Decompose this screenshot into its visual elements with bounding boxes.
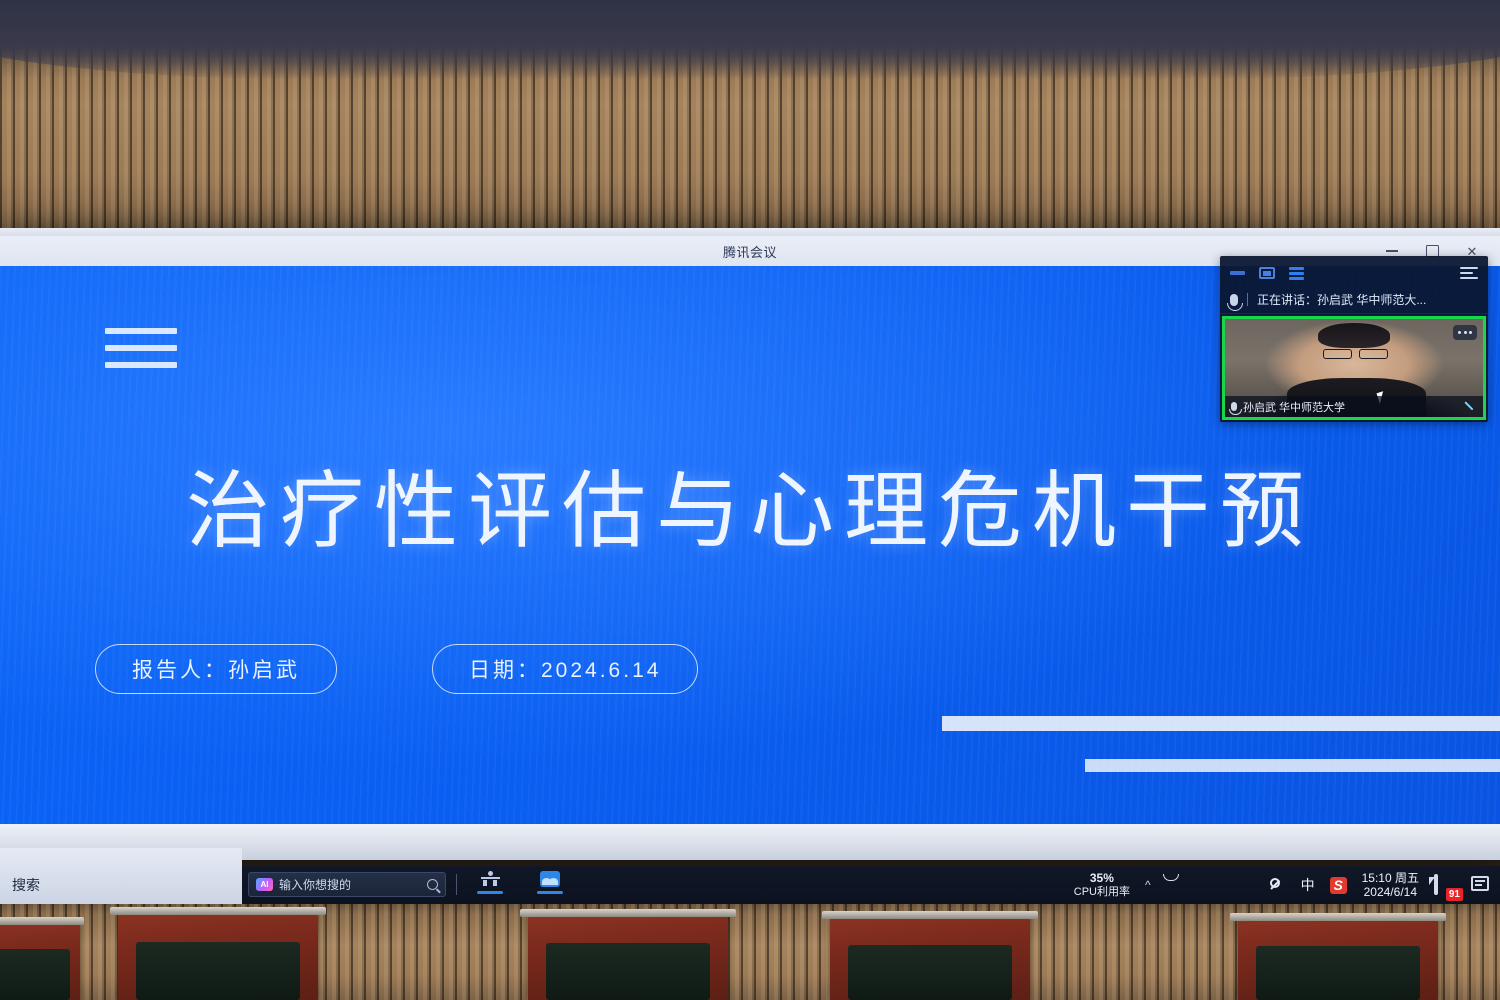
date-pill: 日期：2024.6.14 — [432, 644, 698, 694]
minimize-bar-icon[interactable] — [1230, 271, 1245, 275]
security-shield-icon[interactable] — [1200, 876, 1219, 895]
window-title: 腾讯会议 — [723, 242, 777, 261]
picture-icon — [540, 870, 560, 888]
microphone-icon — [1231, 402, 1237, 411]
search-input[interactable]: AI 输入你想搜的 — [248, 872, 446, 897]
more-options-icon[interactable] — [1453, 325, 1477, 340]
auditorium-chair — [118, 912, 318, 1000]
cpu-usage-indicator[interactable]: 35% CPU利用率 — [1074, 872, 1130, 898]
avatar-glasses — [1323, 349, 1388, 359]
cpu-label: CPU利用率 — [1074, 886, 1130, 899]
expand-panel-icon[interactable] — [1460, 267, 1478, 280]
taskbar-app-list — [472, 870, 568, 894]
taskbar-divider — [456, 874, 457, 895]
clock-date: 2024/6/14 — [1362, 885, 1419, 899]
slide-meta-row: 报告人：孙启武 日期：2024.6.14 — [95, 644, 698, 694]
grid-list-icon[interactable] — [1289, 267, 1304, 280]
single-view-icon[interactable] — [1259, 267, 1275, 279]
projection-screen: 腾讯会议 治疗性评估与心理危机干预 报告人：孙启武 日期：2024.6.14 — [0, 228, 1500, 860]
update-icon[interactable] — [1234, 876, 1253, 895]
auditorium-chair — [1238, 918, 1438, 1000]
taskbar-search-pane[interactable]: 搜索 — [0, 848, 242, 904]
chat-icon[interactable] — [1471, 876, 1490, 895]
microphone-icon[interactable] — [1166, 876, 1185, 895]
participant-video-tile[interactable]: 孙启武 华中师范大学 — [1222, 316, 1486, 420]
taskbar-app-photos[interactable] — [532, 870, 568, 894]
pen-tool-icon[interactable] — [1268, 876, 1286, 894]
slide-decoration-lines — [105, 328, 177, 368]
slide-title: 治疗性评估与心理危机干预 — [0, 444, 1500, 565]
app-active-indicator — [537, 891, 563, 894]
auditorium-chair — [830, 916, 1030, 1000]
minimize-icon[interactable] — [1382, 250, 1402, 252]
windows-taskbar: 搜索 AI 输入你想搜的 35% CPU利用率 ^ 中 S 15:10 周五 2… — [0, 866, 1500, 904]
notification-icon[interactable]: 91 — [1434, 876, 1456, 895]
wooden-wall-upper — [0, 0, 1500, 232]
app-active-indicator — [477, 891, 503, 894]
avatar-hair — [1318, 323, 1390, 348]
microphone-icon — [1230, 294, 1238, 306]
auditorium-chair — [0, 922, 80, 1000]
participant-name-bar: 孙启武 华中师范大学 — [1225, 396, 1483, 417]
speaking-indicator: 正在讲话：孙启武 华中师范大... — [1220, 286, 1488, 314]
search-placeholder: 输入你想搜的 — [279, 876, 421, 893]
search-icon[interactable] — [427, 879, 438, 890]
slide-decoration-bar-short — [1085, 759, 1500, 772]
people-icon — [480, 870, 500, 888]
auditorium-chair — [528, 914, 728, 1000]
taskbar-app-teams[interactable] — [472, 870, 508, 894]
participant-name: 孙启武 华中师范大学 — [1243, 399, 1345, 415]
chevron-up-icon[interactable]: ^ — [1145, 878, 1151, 892]
video-panel-toolbar — [1220, 260, 1488, 286]
divider — [1247, 293, 1248, 306]
notification-badge: 91 — [1446, 888, 1463, 901]
cpu-percent: 35% — [1074, 872, 1130, 886]
speaking-label: 正在讲话：孙启武 华中师范大... — [1257, 291, 1426, 308]
presenter-pill: 报告人：孙启武 — [95, 644, 337, 694]
search-label: 搜索 — [12, 875, 40, 895]
taskbar-clock[interactable]: 15:10 周五 2024/6/14 — [1362, 871, 1419, 900]
pen-icon[interactable] — [1464, 400, 1477, 413]
clock-time: 15:10 周五 — [1362, 871, 1419, 885]
video-panel[interactable]: 正在讲话：孙启武 华中师范大... 孙启武 华中师范大学 — [1220, 256, 1488, 422]
ime-chinese-icon[interactable]: 中 — [1301, 875, 1315, 895]
sogou-icon[interactable]: S — [1330, 877, 1347, 894]
slide-decoration-bar-long — [942, 716, 1500, 731]
ai-badge-icon: AI — [256, 878, 273, 891]
system-tray: 35% CPU利用率 ^ 中 S 15:10 周五 2024/6/14 91 — [1074, 866, 1496, 904]
